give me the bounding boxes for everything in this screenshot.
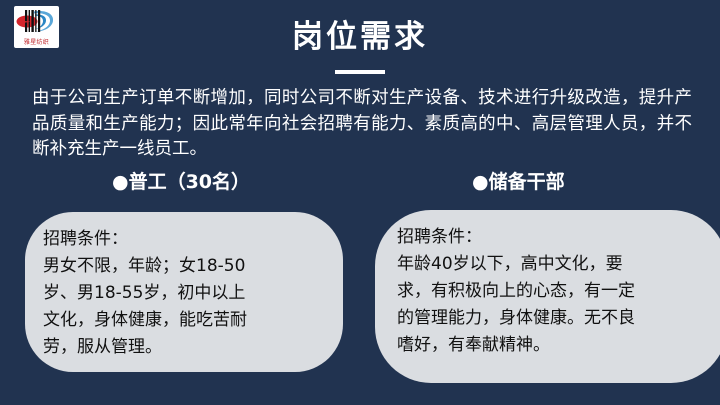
card-line: 嗜好，有奉献精神。 <box>397 332 713 359</box>
column-heading-reserve-cadre: ●储备干部 <box>472 169 565 195</box>
requirements-card-reserve-cadre: 招聘条件： 年龄40岁以下，高中文化，要 求，有积极向上的心态，有一定 的管理能… <box>375 210 720 383</box>
card-line: 招聘条件： <box>397 224 713 251</box>
card-line: 男女不限，年龄；女18-50 <box>43 253 327 280</box>
intro-paragraph: 由于公司生产订单不断增加，同时公司不断对生产设备、技术进行升级改造，提升产品质量… <box>32 86 692 163</box>
card-line: 求，有积极向上的心态，有一定 <box>397 278 713 305</box>
title-underline-rule <box>335 70 385 74</box>
card-line: 劳，服从管理。 <box>43 334 327 361</box>
column-heading-general-worker: ●普工（30名） <box>112 169 250 195</box>
card-line: 招聘条件： <box>43 226 327 253</box>
page-title: 岗位需求 <box>0 18 720 56</box>
card-line: 岁、男18-55岁，初中以上 <box>43 280 327 307</box>
card-line: 年龄40岁以下，高中文化，要 <box>397 251 713 278</box>
requirements-card-general-worker: 招聘条件： 男女不限，年龄；女18-50 岁、男18-55岁，初中以上 文化，身… <box>25 212 343 372</box>
card-line: 文化，身体健康，能吃苦耐 <box>43 307 327 334</box>
slide-canvas: 雅星纺织 岗位需求 由于公司生产订单不断增加，同时公司不断对生产设备、技术进行升… <box>0 0 720 405</box>
card-line: 的管理能力，身体健康。无不良 <box>397 305 713 332</box>
